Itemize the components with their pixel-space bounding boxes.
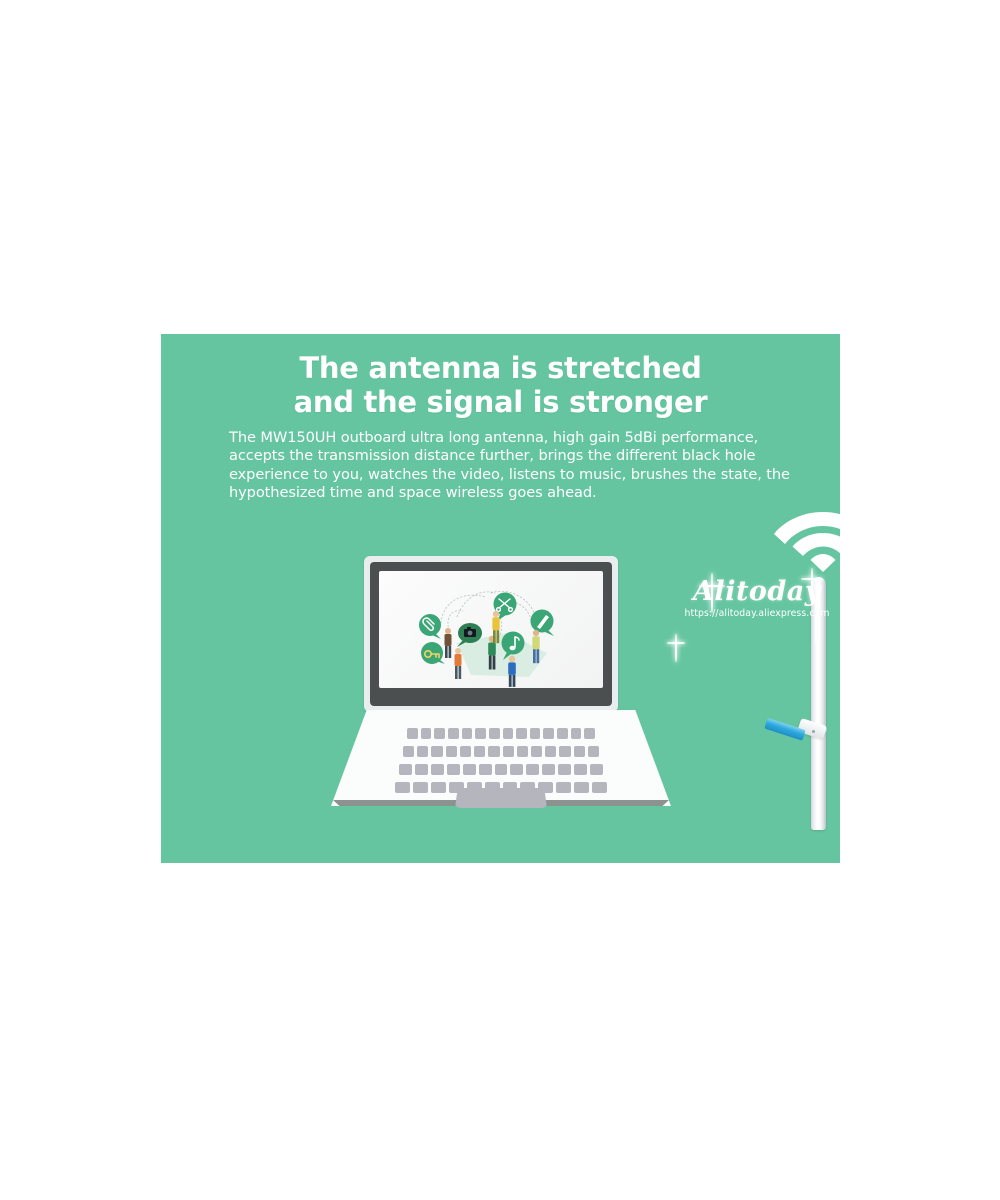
- laptop-lid: [364, 556, 618, 712]
- brand-url: https://alitoday.aliexpress.com: [674, 608, 840, 620]
- promo-banner-panel: The antenna is stretched and the signal …: [161, 334, 840, 863]
- brand-watermark: Alitoday https://alitoday.aliexpress.com: [674, 577, 840, 620]
- person-figure: [508, 656, 516, 687]
- keyboard-row: [395, 782, 607, 793]
- keyboard-key: [574, 782, 589, 793]
- keyboard-key: [421, 728, 432, 739]
- keyboard-key: [479, 764, 492, 775]
- keyboard-key: [434, 728, 445, 739]
- keyboard-row: [399, 764, 603, 775]
- keyboard-key: [431, 782, 446, 793]
- page-title: The antenna is stretched and the signal …: [161, 351, 840, 419]
- keyboard-key: [588, 746, 599, 757]
- keyboard-row: [407, 728, 595, 739]
- keyboard-key: [503, 728, 514, 739]
- keyboard-key: [590, 764, 603, 775]
- keyboard-key: [517, 746, 528, 757]
- keyboard-key: [543, 728, 554, 739]
- keyboard-key: [403, 746, 414, 757]
- keyboard-key: [571, 728, 582, 739]
- keyboard-key: [395, 782, 410, 793]
- person-figure: [455, 648, 462, 679]
- keyboard-key: [449, 782, 464, 793]
- keyboard-key: [592, 782, 607, 793]
- keyboard-key: [463, 764, 476, 775]
- keyboard-key: [467, 782, 482, 793]
- keyboard-key: [407, 728, 418, 739]
- keyboard-key: [503, 782, 518, 793]
- keyboard-key: [446, 746, 457, 757]
- keyboard-key: [460, 746, 471, 757]
- laptop-bezel: [370, 562, 612, 706]
- keyboard-key: [489, 728, 500, 739]
- people-network-illustration: [379, 571, 603, 688]
- keyboard-key: [526, 764, 539, 775]
- keyboard-key: [488, 746, 499, 757]
- wifi-signal-icon: [773, 504, 840, 572]
- brand-name: Alitoday: [674, 577, 840, 607]
- keyboard-key: [530, 728, 541, 739]
- keyboard-key: [516, 728, 527, 739]
- keyboard-key: [448, 728, 459, 739]
- keyboard-key: [503, 746, 514, 757]
- laptop-screen: [379, 571, 603, 688]
- keyboard-key: [485, 782, 500, 793]
- keyboard-key: [542, 764, 555, 775]
- keyboard-key: [510, 764, 523, 775]
- keyboard-key: [431, 764, 444, 775]
- person-figure: [445, 628, 452, 658]
- keyboard-key: [574, 764, 587, 775]
- keyboard-key: [557, 728, 568, 739]
- keyboard-key: [462, 728, 473, 739]
- keyboard-key: [447, 764, 460, 775]
- keyboard-key: [431, 746, 442, 757]
- keyboard-key: [556, 782, 571, 793]
- keyboard-key: [413, 782, 428, 793]
- keyboard-key: [475, 728, 486, 739]
- keyboard-row: [403, 746, 599, 757]
- keyboard-key: [574, 746, 585, 757]
- keyboard-key: [520, 782, 535, 793]
- product-description: The MW150UH outboard ultra long antenna,…: [229, 429, 791, 503]
- keyboard-key: [531, 746, 542, 757]
- keyboard-key: [495, 764, 508, 775]
- keyboard-key: [559, 746, 570, 757]
- keyboard-key: [415, 764, 428, 775]
- keyboard-key: [399, 764, 412, 775]
- laptop-illustration: [331, 556, 671, 828]
- keyboard-key: [474, 746, 485, 757]
- keyboard-key: [417, 746, 428, 757]
- keyboard-key: [558, 764, 571, 775]
- keyboard-key: [538, 782, 553, 793]
- keyboard-key: [584, 728, 595, 739]
- keyboard-key: [545, 746, 556, 757]
